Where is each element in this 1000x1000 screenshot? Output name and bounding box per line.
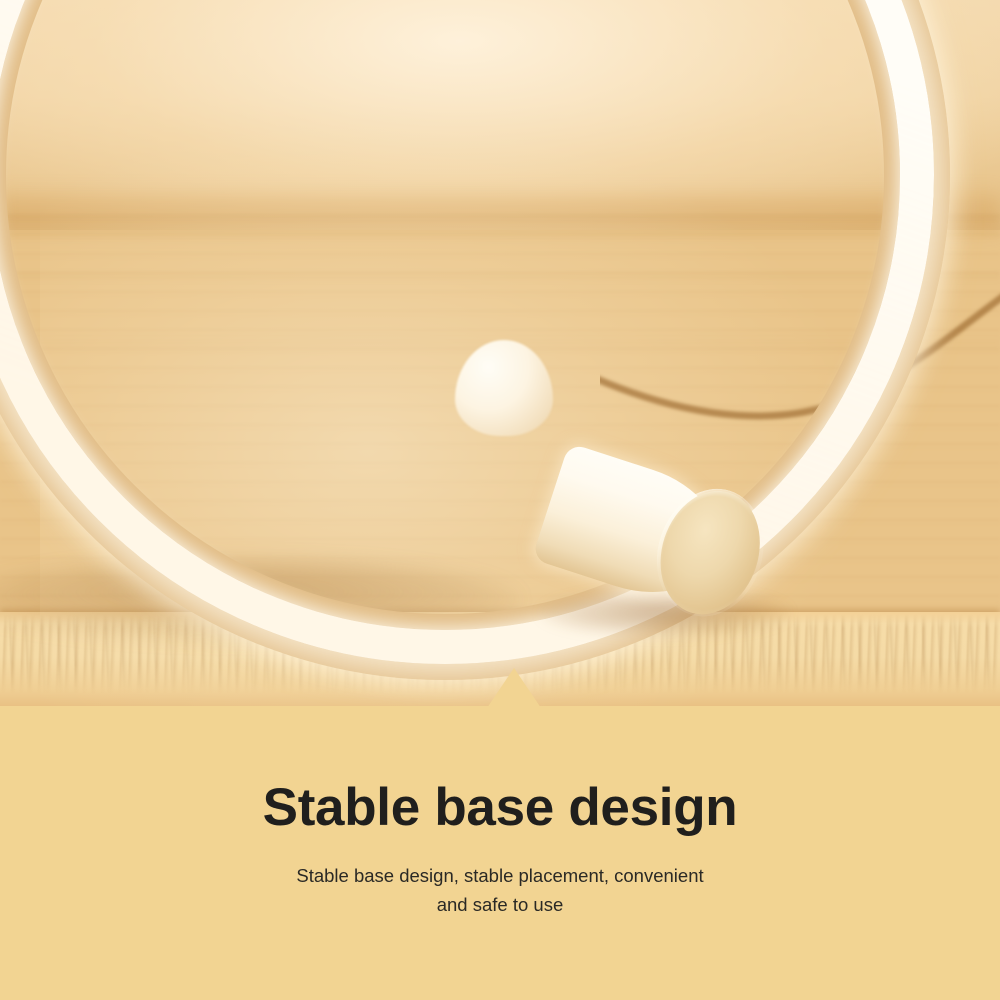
caption-heading: Stable base design: [0, 780, 1000, 836]
caption-band: [0, 706, 1000, 1000]
product-feature-card: Stable base design Stable base design, s…: [0, 0, 1000, 1000]
caption-subtitle: Stable base design, stable placement, co…: [0, 862, 1000, 919]
caption-subtitle-line-2: and safe to use: [0, 891, 1000, 920]
product-photo: [0, 0, 1000, 706]
led-ring-lamp: [0, 0, 950, 680]
caption-notch-triangle: [487, 668, 541, 708]
caption-subtitle-line-1: Stable base design, stable placement, co…: [0, 862, 1000, 891]
